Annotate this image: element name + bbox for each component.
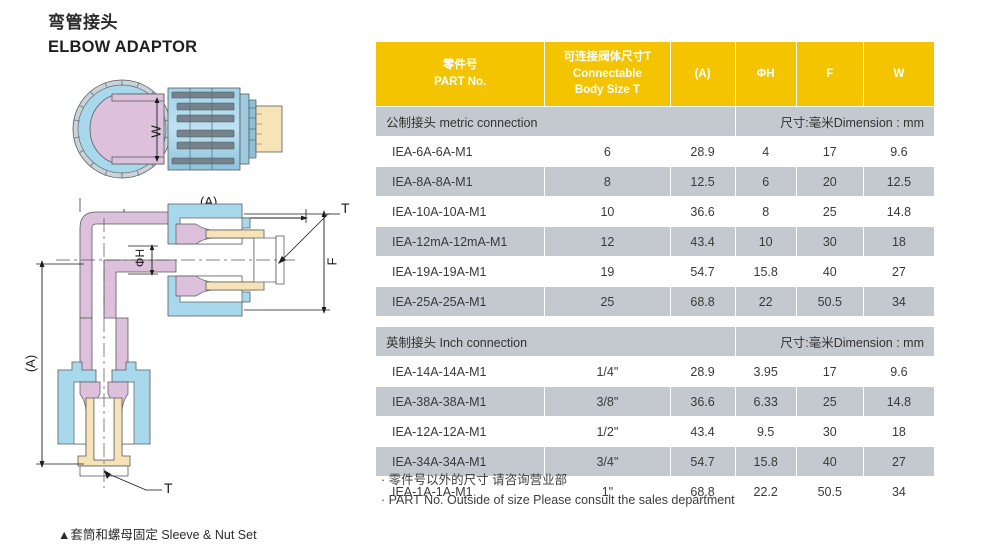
cell-body-size: 19 xyxy=(545,257,669,286)
cell-w: 34 xyxy=(864,477,934,506)
dimension-label-t-upper: T xyxy=(341,200,350,216)
cell-phi-h: 22.2 xyxy=(736,477,796,506)
cell-f: 40 xyxy=(797,257,863,286)
cell-w: 34 xyxy=(864,287,934,316)
cell-a: 43.4 xyxy=(671,417,735,446)
product-drawing-panel: 弯管接头 ELBOW ADAPTOR xyxy=(0,0,370,555)
cell-a: 43.4 xyxy=(671,227,735,256)
cell-part-no: IEA-12mA-12mA-M1 xyxy=(376,227,544,256)
column-header-body-size: 可连接阀体尺寸T Connectable Body Size T xyxy=(545,42,669,106)
table-row: IEA-25A-25A-M12568.82250.534 xyxy=(376,287,934,316)
cell-f: 25 xyxy=(797,387,863,416)
dimension-label-phi-h: ΦH xyxy=(133,249,147,267)
cell-f: 30 xyxy=(797,227,863,256)
cell-body-size: 3/8" xyxy=(545,387,669,416)
cell-part-no: IEA-38A-38A-M1 xyxy=(376,387,544,416)
footer-note-en: · PART No. Outside of size Please consul… xyxy=(381,490,735,510)
cell-f: 17 xyxy=(797,137,863,166)
column-header-f: F xyxy=(797,42,863,106)
top-view-drawing: W xyxy=(60,72,310,197)
table-row: IEA-8A-8A-M1812.562012.5 xyxy=(376,167,934,196)
cell-w: 14.8 xyxy=(864,197,934,226)
cell-part-no: IEA-10A-10A-M1 xyxy=(376,197,544,226)
table-row: IEA-38A-38A-M13/8"36.66.332514.8 xyxy=(376,387,934,416)
table-section-header: 公制接头 metric connection尺寸:毫米Dimension : m… xyxy=(376,107,934,136)
table-section-label: 公制接头 metric connection xyxy=(376,107,735,136)
cell-a: 36.6 xyxy=(671,387,735,416)
column-header-part-no-line1: 零件号 xyxy=(378,57,542,74)
cell-body-size: 1/4" xyxy=(545,357,669,386)
cell-a: 28.9 xyxy=(671,357,735,386)
dimension-label-w: W xyxy=(149,125,164,137)
page-title-cn: 弯管接头 xyxy=(48,12,348,35)
cell-phi-h: 6 xyxy=(736,167,796,196)
cell-w: 18 xyxy=(864,227,934,256)
cell-part-no: IEA-19A-19A-M1 xyxy=(376,257,544,286)
cell-phi-h: 4 xyxy=(736,137,796,166)
cell-body-size: 10 xyxy=(545,197,669,226)
cell-body-size: 25 xyxy=(545,287,669,316)
column-header-body-size-line2: Connectable xyxy=(547,66,667,83)
footer-note-cn: · 零件号以外的尺寸 请咨询营业部 xyxy=(381,470,735,490)
specification-table-panel: 零件号 PART No. 可连接阀体尺寸T Connectable Body S… xyxy=(375,41,935,507)
page-title-en: ELBOW ADAPTOR xyxy=(48,36,348,58)
table-body: 公制接头 metric connection尺寸:毫米Dimension : m… xyxy=(376,107,934,506)
table-header-row: 零件号 PART No. 可连接阀体尺寸T Connectable Body S… xyxy=(376,42,934,106)
cell-a: 36.6 xyxy=(671,197,735,226)
cell-phi-h: 6.33 xyxy=(736,387,796,416)
dimension-label-a-vertical: (A) xyxy=(23,355,38,372)
table-row: IEA-19A-19A-M11954.715.84027 xyxy=(376,257,934,286)
table-row: IEA-14A-14A-M11/4"28.93.95179.6 xyxy=(376,357,934,386)
cell-body-size: 6 xyxy=(545,137,669,166)
cell-a: 12.5 xyxy=(671,167,735,196)
table-section-header: 英制接头 Inch connection尺寸:毫米Dimension : mm xyxy=(376,327,934,356)
table-section-unit-note: 尺寸:毫米Dimension : mm xyxy=(736,327,934,356)
cell-phi-h: 15.8 xyxy=(736,257,796,286)
cell-phi-h: 9.5 xyxy=(736,417,796,446)
cross-section-drawing: (A) F ΦH T T xyxy=(28,198,358,498)
cell-f: 50.5 xyxy=(797,477,863,506)
cell-part-no: IEA-8A-8A-M1 xyxy=(376,167,544,196)
cell-f: 30 xyxy=(797,417,863,446)
specification-table: 零件号 PART No. 可连接阀体尺寸T Connectable Body S… xyxy=(375,41,935,507)
cell-phi-h: 22 xyxy=(736,287,796,316)
cell-w: 12.5 xyxy=(864,167,934,196)
table-row: IEA-10A-10A-M11036.682514.8 xyxy=(376,197,934,226)
cell-f: 50.5 xyxy=(797,287,863,316)
column-header-part-no: 零件号 PART No. xyxy=(376,42,544,106)
dimension-label-f: F xyxy=(324,258,339,266)
cell-part-no: IEA-6A-6A-M1 xyxy=(376,137,544,166)
dimension-label-t-lower: T xyxy=(164,480,173,496)
cell-w: 27 xyxy=(864,447,934,476)
table-row: IEA-12mA-12mA-M11243.4103018 xyxy=(376,227,934,256)
cell-f: 17 xyxy=(797,357,863,386)
cell-f: 25 xyxy=(797,197,863,226)
drawing-caption: ▲套筒和螺母固定 Sleeve & Nut Set xyxy=(58,524,257,543)
column-header-body-size-line1: 可连接阀体尺寸T xyxy=(547,49,667,66)
table-header: 零件号 PART No. 可连接阀体尺寸T Connectable Body S… xyxy=(376,42,934,106)
cell-part-no: IEA-25A-25A-M1 xyxy=(376,287,544,316)
table-row: IEA-6A-6A-M1628.94179.6 xyxy=(376,137,934,166)
cell-phi-h: 8 xyxy=(736,197,796,226)
cell-w: 9.6 xyxy=(864,357,934,386)
cell-phi-h: 15.8 xyxy=(736,447,796,476)
table-row: IEA-12A-12A-M11/2"43.49.53018 xyxy=(376,417,934,446)
cell-a: 68.8 xyxy=(671,287,735,316)
column-header-body-size-line3: Body Size T xyxy=(547,82,667,99)
cell-phi-h: 3.95 xyxy=(736,357,796,386)
table-section-label: 英制接头 Inch connection xyxy=(376,327,735,356)
top-view-svg xyxy=(60,72,310,197)
cell-part-no: IEA-14A-14A-M1 xyxy=(376,357,544,386)
cell-a: 28.9 xyxy=(671,137,735,166)
cell-body-size: 1/2" xyxy=(545,417,669,446)
column-header-phi-h: ΦH xyxy=(736,42,796,106)
table-section-spacer xyxy=(376,317,934,326)
table-section-unit-note: 尺寸:毫米Dimension : mm xyxy=(736,107,934,136)
cell-body-size: 8 xyxy=(545,167,669,196)
cell-w: 9.6 xyxy=(864,137,934,166)
cell-part-no: IEA-12A-12A-M1 xyxy=(376,417,544,446)
cell-w: 18 xyxy=(864,417,934,446)
column-header-part-no-line2: PART No. xyxy=(378,74,542,91)
table-section-spacer-cell xyxy=(376,317,934,326)
cell-phi-h: 10 xyxy=(736,227,796,256)
cell-body-size: 12 xyxy=(545,227,669,256)
cell-f: 40 xyxy=(797,447,863,476)
footer-notes: · 零件号以外的尺寸 请咨询营业部 · PART No. Outside of … xyxy=(381,470,735,511)
cross-section-svg xyxy=(28,198,358,498)
cell-w: 14.8 xyxy=(864,387,934,416)
page-title: 弯管接头 ELBOW ADAPTOR xyxy=(48,12,348,58)
column-header-w: W xyxy=(864,42,934,106)
cell-f: 20 xyxy=(797,167,863,196)
column-header-a: (A) xyxy=(671,42,735,106)
cell-w: 27 xyxy=(864,257,934,286)
cell-a: 54.7 xyxy=(671,257,735,286)
